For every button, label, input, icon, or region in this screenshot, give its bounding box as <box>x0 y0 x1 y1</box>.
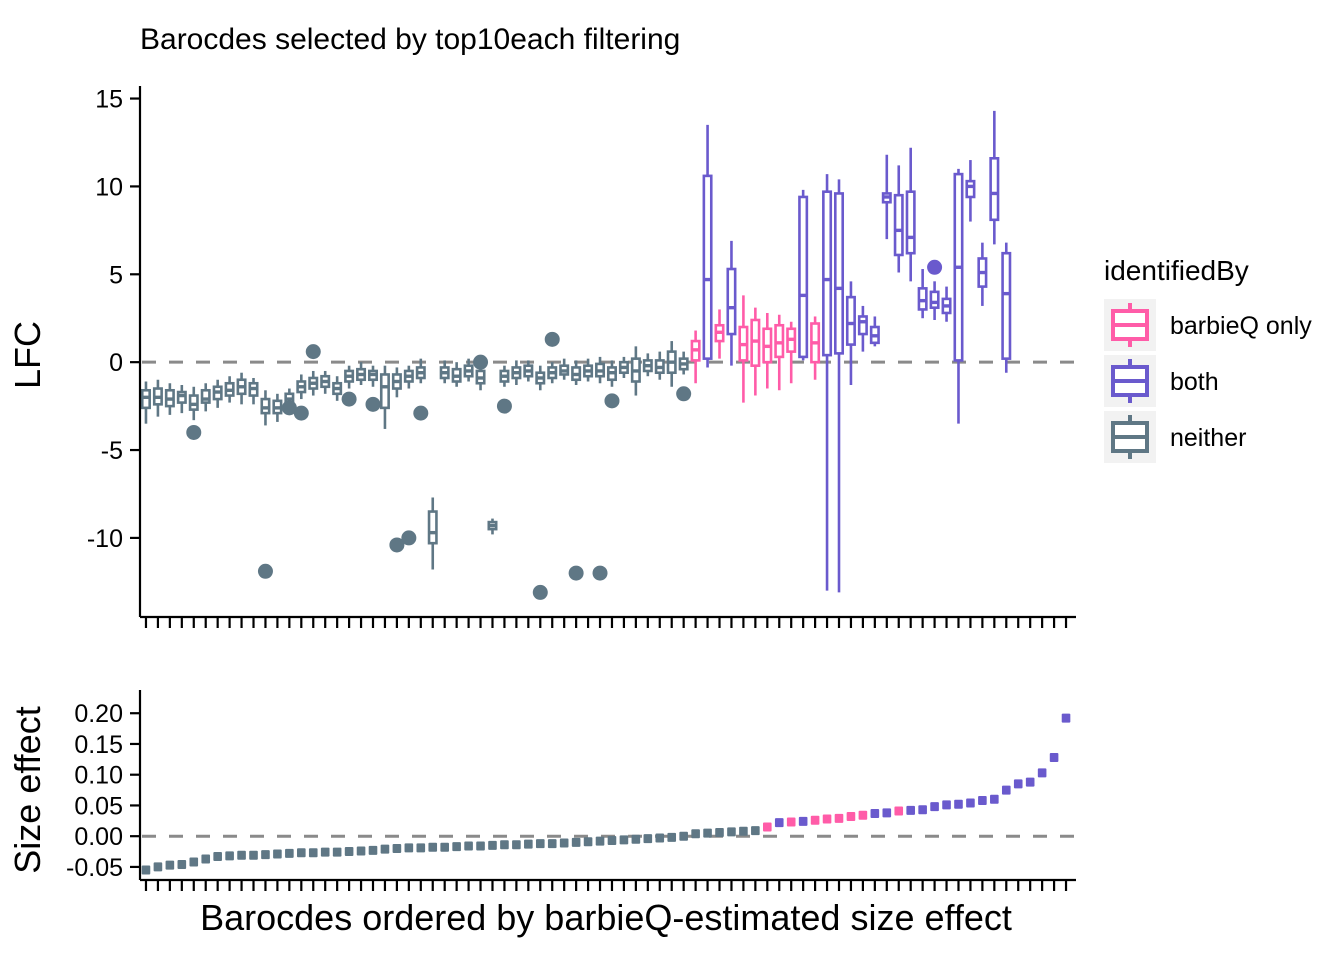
size-effect-mark[interactable] <box>213 852 222 861</box>
size-effect-mark[interactable] <box>560 838 569 847</box>
outlier-point[interactable] <box>533 585 548 600</box>
outlier-point[interactable] <box>366 397 381 412</box>
size-effect-mark[interactable] <box>847 812 856 821</box>
size-effect-mark[interactable] <box>1002 786 1011 795</box>
size-effect-mark[interactable] <box>297 848 306 857</box>
size-effect-mark[interactable] <box>691 829 700 838</box>
size-effect-mark[interactable] <box>584 837 593 846</box>
size-effect-mark[interactable] <box>727 827 736 836</box>
size-effect-mark[interactable] <box>1038 768 1047 777</box>
size-effect-mark[interactable] <box>835 814 844 823</box>
outlier-point[interactable] <box>569 566 584 581</box>
size-effect-mark[interactable] <box>249 851 258 860</box>
size-effect-mark[interactable] <box>823 814 832 823</box>
size-effect-mark[interactable] <box>1050 753 1059 762</box>
size-effect-mark[interactable] <box>428 843 437 852</box>
size-effect-mark[interactable] <box>345 847 354 856</box>
size-effect-mark[interactable] <box>978 796 987 805</box>
size-effect-mark[interactable] <box>679 832 688 841</box>
size-effect-tick-label: 0.05 <box>74 792 123 820</box>
size-effect-mark[interactable] <box>142 866 151 875</box>
size-effect-mark[interactable] <box>787 818 796 827</box>
size-effect-mark[interactable] <box>488 841 497 850</box>
size-effect-mark[interactable] <box>715 828 724 837</box>
outlier-point[interactable] <box>258 564 273 579</box>
outlier-point[interactable] <box>342 392 357 407</box>
plot-title: Barocdes selected by top10each filtering <box>140 23 680 56</box>
size-effect-mark[interactable] <box>512 840 521 849</box>
size-effect-mark[interactable] <box>667 833 676 842</box>
size-effect-mark[interactable] <box>608 836 617 845</box>
outlier-point[interactable] <box>604 393 619 408</box>
size-effect-axis-title: Size effect <box>7 706 48 873</box>
size-effect-mark[interactable] <box>942 800 951 809</box>
x-axis-title: Barocdes ordered by barbieQ-estimated si… <box>200 897 1012 938</box>
size-effect-mark[interactable] <box>393 844 402 853</box>
size-effect-mark[interactable] <box>596 837 605 846</box>
figure-background <box>0 0 1344 960</box>
size-effect-mark[interactable] <box>763 822 772 831</box>
size-effect-mark[interactable] <box>1026 778 1035 787</box>
size-effect-mark[interactable] <box>524 840 533 849</box>
size-effect-mark[interactable] <box>1062 714 1071 723</box>
size-effect-mark[interactable] <box>273 850 282 859</box>
size-effect-mark[interactable] <box>894 806 903 815</box>
figure-svg: Barocdes selected by top10each filtering… <box>0 0 1344 960</box>
legend-item-label: barbieQ only <box>1170 312 1312 340</box>
size-effect-mark[interactable] <box>166 861 175 870</box>
size-effect-tick-label: 0.15 <box>74 731 123 759</box>
size-effect-mark[interactable] <box>871 809 880 818</box>
size-effect-mark[interactable] <box>703 829 712 838</box>
size-effect-mark[interactable] <box>285 849 294 858</box>
size-effect-mark[interactable] <box>620 835 629 844</box>
outlier-point[interactable] <box>186 425 201 440</box>
outlier-point[interactable] <box>306 344 321 359</box>
size-effect-mark[interactable] <box>739 827 748 836</box>
outlier-point[interactable] <box>545 332 560 347</box>
size-effect-mark[interactable] <box>225 851 234 860</box>
size-effect-mark[interactable] <box>357 846 366 855</box>
outlier-point[interactable] <box>497 399 512 414</box>
lfc-tick-label: 0 <box>109 349 123 377</box>
size-effect-mark[interactable] <box>572 838 581 847</box>
size-effect-mark[interactable] <box>381 845 390 854</box>
size-effect-mark[interactable] <box>452 842 461 851</box>
lfc-tick-label: 5 <box>109 261 123 289</box>
size-effect-mark[interactable] <box>261 850 270 859</box>
size-effect-tick-label: 0.00 <box>74 823 123 851</box>
size-effect-tick-label: 0.20 <box>74 700 123 728</box>
size-effect-mark[interactable] <box>859 811 868 820</box>
size-effect-mark[interactable] <box>655 834 664 843</box>
size-effect-mark[interactable] <box>990 795 999 804</box>
size-effect-mark[interactable] <box>237 851 246 860</box>
size-effect-mark[interactable] <box>1014 779 1023 788</box>
size-effect-mark[interactable] <box>369 846 378 855</box>
size-effect-mark[interactable] <box>906 806 915 815</box>
chart-root: Barocdes selected by top10each filtering… <box>0 0 1344 960</box>
outlier-point[interactable] <box>676 386 691 401</box>
size-effect-mark[interactable] <box>632 835 641 844</box>
size-effect-mark[interactable] <box>811 816 820 825</box>
size-effect-tick-label: -0.05 <box>66 854 123 882</box>
lfc-tick-label: -10 <box>87 525 123 553</box>
size-effect-mark[interactable] <box>918 805 927 814</box>
size-effect-mark[interactable] <box>751 826 760 835</box>
outlier-point[interactable] <box>473 355 488 370</box>
size-effect-mark[interactable] <box>536 839 545 848</box>
size-effect-mark[interactable] <box>178 860 187 869</box>
legend-item-label: both <box>1170 368 1219 396</box>
size-effect-mark[interactable] <box>882 808 891 817</box>
size-effect-mark[interactable] <box>644 834 653 843</box>
size-effect-mark[interactable] <box>799 817 808 826</box>
size-effect-mark[interactable] <box>154 862 163 871</box>
boxplot[interactable] <box>1003 243 1010 373</box>
size-effect-mark[interactable] <box>440 843 449 852</box>
size-effect-mark[interactable] <box>416 843 425 852</box>
outlier-point[interactable] <box>413 406 428 421</box>
size-effect-mark[interactable] <box>189 858 198 867</box>
size-effect-mark[interactable] <box>464 842 473 851</box>
size-effect-mark[interactable] <box>966 798 975 807</box>
lfc-tick-label: 15 <box>95 86 123 114</box>
size-effect-mark[interactable] <box>954 800 963 809</box>
boxplot[interactable] <box>799 190 806 360</box>
size-effect-mark[interactable] <box>500 840 509 849</box>
outlier-point[interactable] <box>927 260 942 275</box>
legend-item-label: neither <box>1170 424 1246 452</box>
size-effect-mark[interactable] <box>548 839 557 848</box>
size-effect-mark[interactable] <box>775 818 784 827</box>
outlier-point[interactable] <box>401 530 416 545</box>
size-effect-mark[interactable] <box>405 843 414 852</box>
outlier-point[interactable] <box>294 406 309 421</box>
size-effect-tick-label: 0.10 <box>74 762 123 790</box>
size-effect-mark[interactable] <box>930 802 939 811</box>
size-effect-mark[interactable] <box>321 848 330 857</box>
lfc-tick-label: -5 <box>101 437 123 465</box>
lfc-tick-label: 10 <box>95 173 123 201</box>
size-effect-mark[interactable] <box>309 848 318 857</box>
outlier-point[interactable] <box>593 566 608 581</box>
lfc-axis-title: LFC <box>7 321 48 389</box>
size-effect-mark[interactable] <box>201 854 210 863</box>
legend-title: identifiedBy <box>1104 255 1249 286</box>
size-effect-mark[interactable] <box>476 842 485 851</box>
size-effect-mark[interactable] <box>333 848 342 857</box>
